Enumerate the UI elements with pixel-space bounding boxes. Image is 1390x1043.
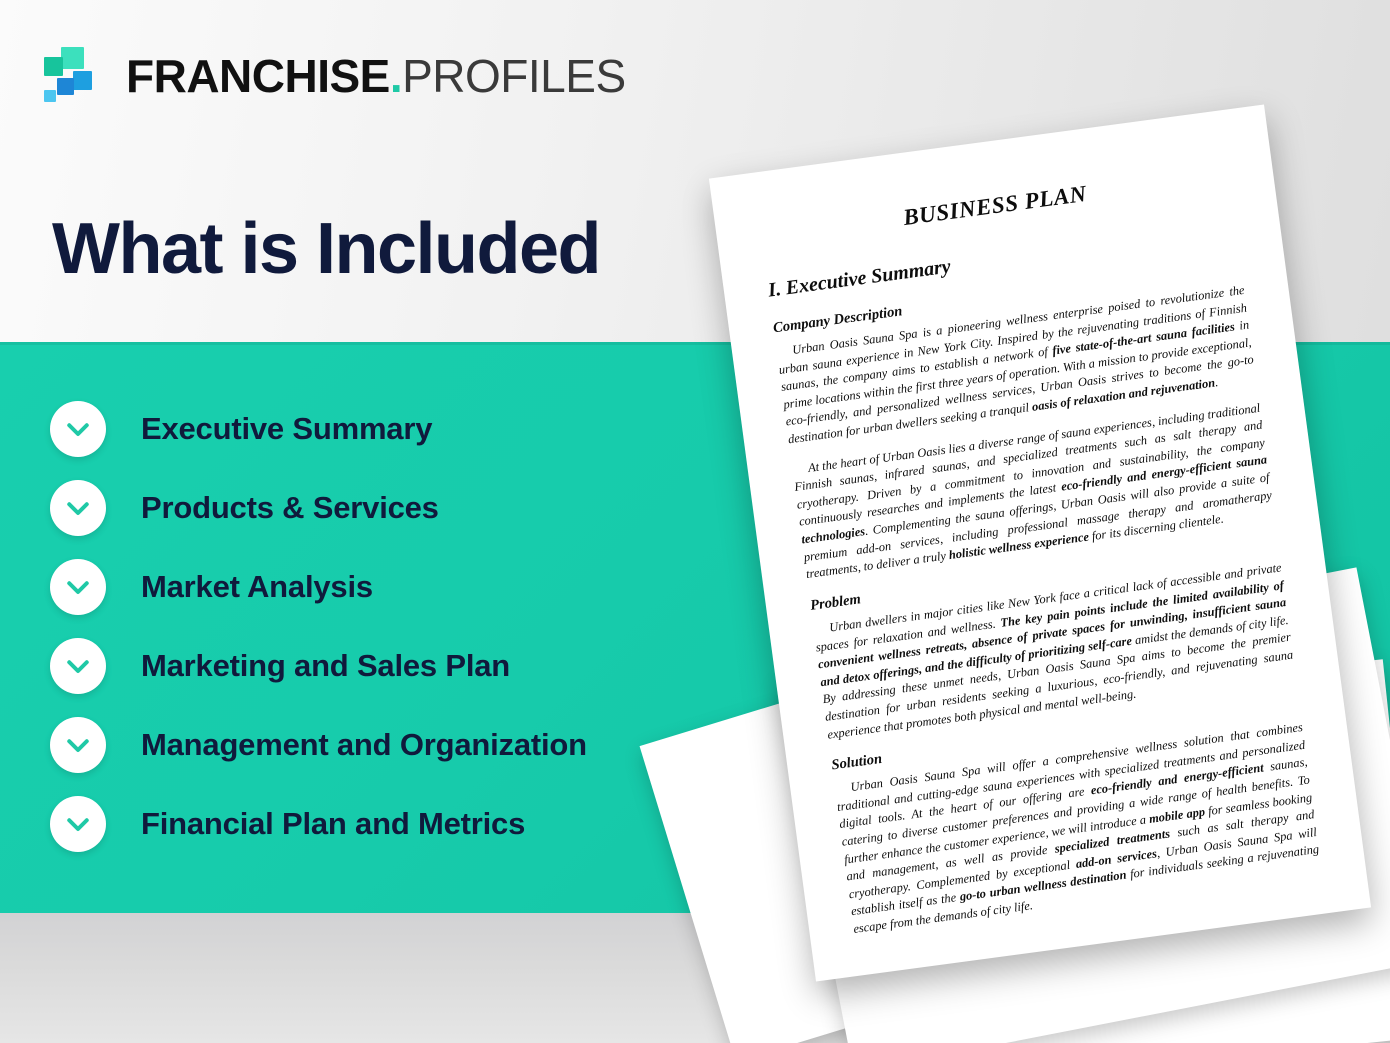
chevron-down-icon[interactable]: [50, 480, 106, 536]
list-item[interactable]: Management and Organization: [50, 714, 710, 776]
list-item[interactable]: Products & Services: [50, 477, 710, 539]
list-item-label: Market Analysis: [141, 569, 373, 605]
list-item-label: Marketing and Sales Plan: [141, 648, 510, 684]
chevron-down-icon[interactable]: [50, 638, 106, 694]
brand-name-thin: PROFILES: [402, 50, 626, 102]
squares-logo-icon: [44, 45, 110, 107]
logo-square-blue: [73, 71, 92, 90]
brand-name-bold: FRANCHISE: [126, 50, 390, 102]
brand-logo[interactable]: FRANCHISE.PROFILES: [44, 40, 626, 112]
chevron-down-icon[interactable]: [50, 559, 106, 615]
slide-canvas: FRANCHISE.PROFILES What is Included Exec…: [0, 0, 1390, 1043]
included-items-list: Executive Summary Products & Services Ma…: [50, 398, 710, 872]
logo-square-teal-light: [61, 47, 84, 69]
brand-wordmark: FRANCHISE.PROFILES: [126, 53, 626, 99]
logo-square-blue-dark: [57, 78, 74, 95]
list-item[interactable]: Market Analysis: [50, 556, 710, 618]
brand-dot: .: [390, 50, 402, 102]
list-item-label: Executive Summary: [141, 411, 432, 447]
list-item[interactable]: Financial Plan and Metrics: [50, 793, 710, 855]
logo-square-sky: [44, 90, 56, 102]
list-item-label: Products & Services: [141, 490, 439, 526]
logo-square-teal: [44, 57, 63, 76]
chevron-down-icon[interactable]: [50, 717, 106, 773]
list-item-label: Financial Plan and Metrics: [141, 806, 525, 842]
document-content: BUSINESS PLAN I. Executive Summary Compa…: [709, 105, 1371, 982]
company-text-e: .: [1214, 375, 1219, 389]
document-page-front[interactable]: BUSINESS PLAN I. Executive Summary Compa…: [709, 105, 1371, 982]
chevron-down-icon[interactable]: [50, 401, 106, 457]
page-title: What is Included: [52, 208, 600, 290]
chevron-down-icon[interactable]: [50, 796, 106, 852]
business-plan-document-stack: de an wellness by exceptional demands of…: [640, 120, 1390, 1043]
list-item-label: Management and Organization: [141, 727, 587, 763]
list-item[interactable]: Executive Summary: [50, 398, 710, 460]
list-item[interactable]: Marketing and Sales Plan: [50, 635, 710, 697]
